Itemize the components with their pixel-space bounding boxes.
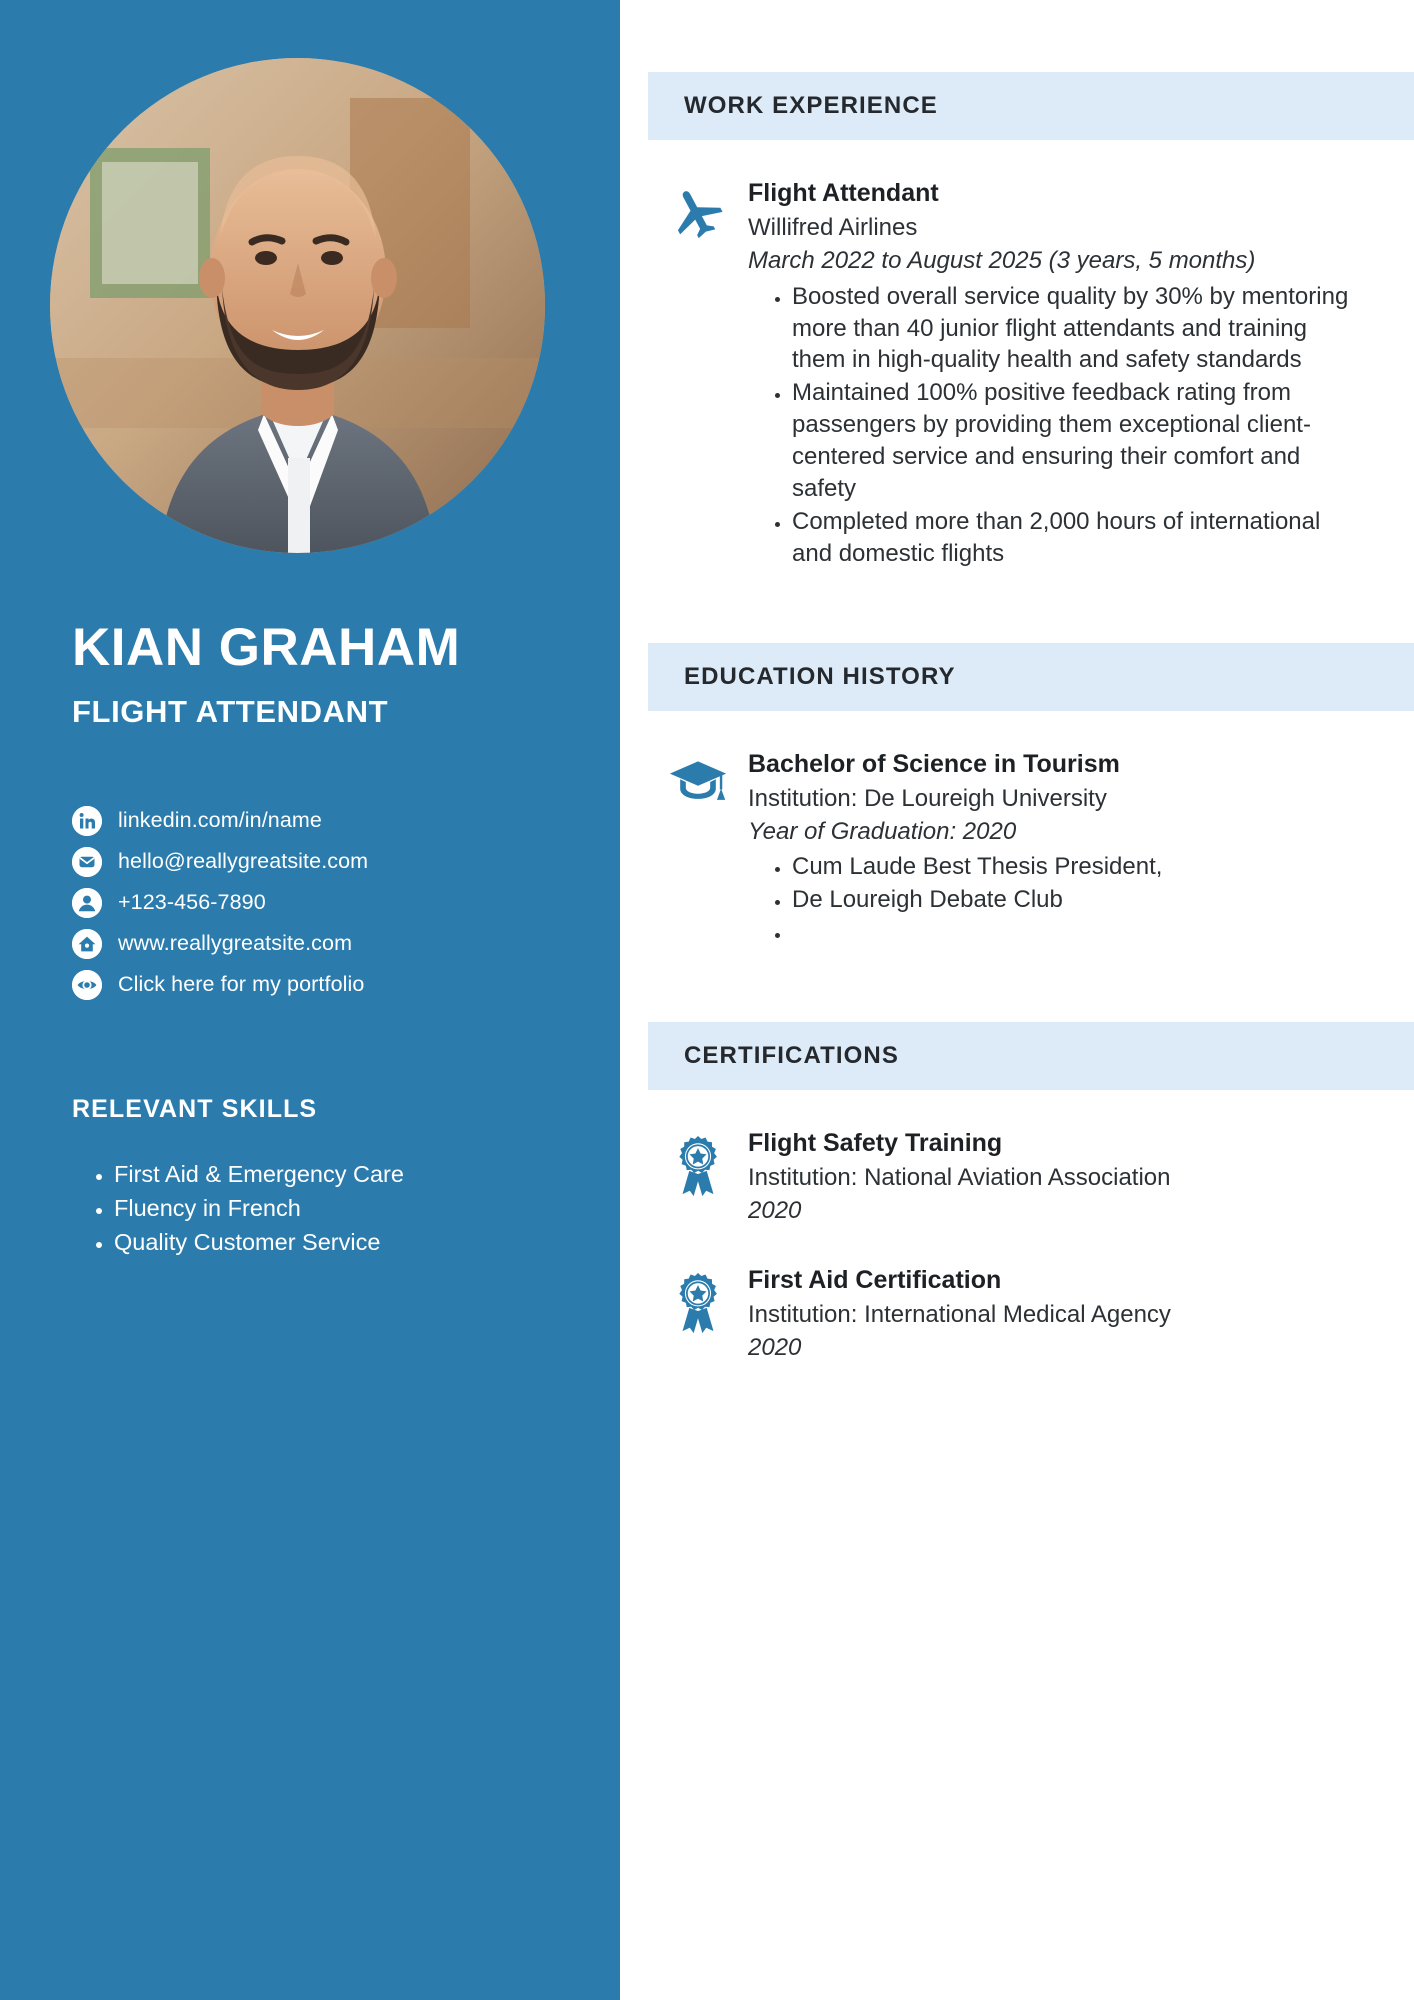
eye-icon xyxy=(72,970,102,1000)
home-icon xyxy=(72,929,102,959)
work-experience-entries: Flight Attendant Willifred Airlines Marc… xyxy=(620,178,1414,571)
certification-entry-body: First Aid Certification Institution: Int… xyxy=(748,1265,1354,1364)
education-entry-bullets: Cum Laude Best Thesis President, De Lour… xyxy=(748,851,1354,949)
contact-website-text: www.reallygreatsite.com xyxy=(118,931,352,956)
contact-portfolio-text: Click here for my portfolio xyxy=(118,972,364,997)
contact-email-text: hello@reallygreatsite.com xyxy=(118,849,368,874)
list-item: Maintained 100% positive feedback rating… xyxy=(792,377,1354,505)
contact-item-website[interactable]: www.reallygreatsite.com xyxy=(72,923,572,964)
work-entry-body: Flight Attendant Willifred Airlines Marc… xyxy=(748,178,1354,571)
person-icon xyxy=(72,888,102,918)
certification-entry: Flight Safety Training Institution: Nati… xyxy=(648,1128,1354,1227)
contact-phone-text: +123-456-7890 xyxy=(118,890,266,915)
work-entry: Flight Attendant Willifred Airlines Marc… xyxy=(648,178,1354,571)
resume-page: KIAN GRAHAM FLIGHT ATTENDANT linkedin.co… xyxy=(0,0,1414,2000)
certification-entry-institution: Institution: National Aviation Associati… xyxy=(748,1162,1354,1194)
contact-item-linkedin[interactable]: linkedin.com/in/name xyxy=(72,800,572,841)
certification-entry-year: 2020 xyxy=(748,1195,1354,1227)
skills-section: RELEVANT SKILLS First Aid & Emergency Ca… xyxy=(72,1095,572,1261)
skills-heading: RELEVANT SKILLS xyxy=(72,1095,572,1124)
main-column: WORK EXPERIENCE Flight Attendant Willifr… xyxy=(620,0,1414,2000)
education-entry-title: Bachelor of Science in Tourism xyxy=(748,749,1354,780)
contact-item-portfolio[interactable]: Click here for my portfolio xyxy=(72,964,572,1005)
graduation-cap-icon xyxy=(648,749,748,950)
award-ribbon-icon xyxy=(648,1265,748,1364)
work-entry-organization: Willifred Airlines xyxy=(748,212,1354,244)
education-entries: Bachelor of Science in Tourism Instituti… xyxy=(620,749,1414,950)
sidebar: KIAN GRAHAM FLIGHT ATTENDANT linkedin.co… xyxy=(0,0,620,2000)
list-item: Quality Customer Service xyxy=(114,1226,572,1258)
name-block: KIAN GRAHAM FLIGHT ATTENDANT xyxy=(72,620,602,730)
certification-entry-body: Flight Safety Training Institution: Nati… xyxy=(748,1128,1354,1227)
work-entry-title: Flight Attendant xyxy=(748,178,1354,209)
certification-entry: First Aid Certification Institution: Int… xyxy=(648,1265,1354,1364)
education-entry-institution: Institution: De Loureigh University xyxy=(748,783,1354,815)
certification-entry-title: Flight Safety Training xyxy=(748,1128,1354,1159)
work-entry-date: March 2022 to August 2025 (3 years, 5 mo… xyxy=(748,245,1354,277)
list-item: Fluency in French xyxy=(114,1192,572,1224)
list-item xyxy=(792,917,1354,949)
award-ribbon-icon xyxy=(648,1128,748,1227)
section-title: CERTIFICATIONS xyxy=(684,1042,899,1070)
section-header-work-experience: WORK EXPERIENCE xyxy=(648,72,1414,140)
section-title: EDUCATION HISTORY xyxy=(684,663,956,691)
linkedin-icon xyxy=(72,806,102,836)
airplane-icon xyxy=(648,178,748,571)
section-header-education-history: EDUCATION HISTORY xyxy=(648,643,1414,711)
avatar xyxy=(50,58,545,553)
skills-list: First Aid & Emergency Care Fluency in Fr… xyxy=(72,1158,572,1259)
email-icon xyxy=(72,847,102,877)
page-title: KIAN GRAHAM xyxy=(72,620,602,676)
contact-list: linkedin.com/in/name hello@reallygreatsi… xyxy=(72,800,572,1005)
list-item: De Loureigh Debate Club xyxy=(792,884,1354,916)
list-item: Completed more than 2,000 hours of inter… xyxy=(792,506,1354,570)
certification-entry-institution: Institution: International Medical Agenc… xyxy=(748,1299,1354,1331)
portrait-photo xyxy=(50,58,545,553)
certification-entries: Flight Safety Training Institution: Nati… xyxy=(620,1128,1414,1363)
contact-item-phone[interactable]: +123-456-7890 xyxy=(72,882,572,923)
education-entry-body: Bachelor of Science in Tourism Instituti… xyxy=(748,749,1354,950)
education-entry: Bachelor of Science in Tourism Instituti… xyxy=(648,749,1354,950)
contact-item-email[interactable]: hello@reallygreatsite.com xyxy=(72,841,572,882)
work-entry-bullets: Boosted overall service quality by 30% b… xyxy=(748,281,1354,570)
certification-entry-year: 2020 xyxy=(748,1332,1354,1364)
job-title: FLIGHT ATTENDANT xyxy=(72,694,602,730)
list-item: Cum Laude Best Thesis President, xyxy=(792,851,1354,883)
list-item: First Aid & Emergency Care xyxy=(114,1158,572,1190)
section-header-certifications: CERTIFICATIONS xyxy=(648,1022,1414,1090)
section-title: WORK EXPERIENCE xyxy=(684,92,938,120)
education-entry-year: Year of Graduation: 2020 xyxy=(748,816,1354,848)
list-item: Boosted overall service quality by 30% b… xyxy=(792,281,1354,377)
contact-linkedin-text: linkedin.com/in/name xyxy=(118,808,322,833)
certification-entry-title: First Aid Certification xyxy=(748,1265,1354,1296)
